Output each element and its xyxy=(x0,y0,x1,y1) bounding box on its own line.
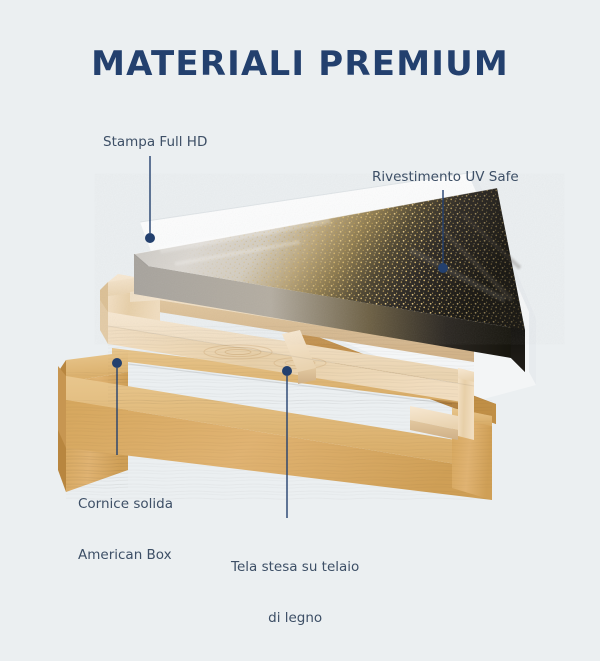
callout-label-line1: Cornice solida xyxy=(78,496,173,513)
dot-uv xyxy=(438,263,448,273)
dot-print xyxy=(145,233,155,243)
dot-frame xyxy=(112,358,122,368)
callout-label-stampa-full-hd: Stampa Full HD xyxy=(103,134,207,151)
dot-canvas xyxy=(282,366,292,376)
callout-label-tela-stesa-su-telaio-di-legno: Tela stesa su telaio di legno xyxy=(231,525,359,661)
callout-label-line2: American Box xyxy=(78,547,173,564)
callout-label-line1: Tela stesa su telaio xyxy=(231,559,359,576)
illustration-stage: MATERIALI PREMIUM xyxy=(0,0,600,600)
callout-label-cornice-solida-american-box: Cornice solida American Box xyxy=(78,462,173,598)
callout-label-line2: di legno xyxy=(231,610,359,627)
callout-label-rivestimento-uv-safe: Rivestimento UV Safe xyxy=(372,169,519,186)
